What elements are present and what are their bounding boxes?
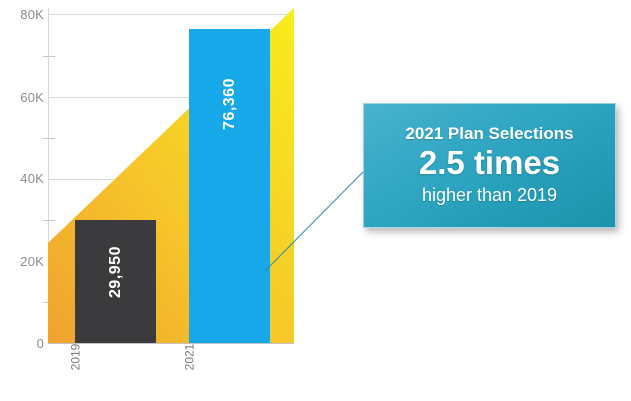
y-tick-label-60k: 60K — [4, 91, 44, 104]
plot-area: 29,950 76,360 — [48, 8, 294, 344]
x-axis-label-2021: 2021 — [159, 350, 219, 364]
x-axis-label-2019: 2019 — [45, 350, 105, 364]
bar-value-2021: 76,360 — [221, 78, 239, 130]
x-axis-label-2021-text: 2021 — [182, 344, 196, 371]
y-axis: 80K 60K 40K 20K 0 — [0, 0, 44, 401]
callout-line-2: 2.5 times — [419, 145, 560, 182]
bar-value-2019: 29,950 — [107, 246, 125, 298]
callout-line-1: 2021 Plan Selections — [405, 125, 573, 144]
bar-chart: 80K 60K 40K 20K 0 — [0, 0, 631, 401]
x-axis-spine — [48, 343, 294, 344]
y-tick-label-40k: 40K — [4, 172, 44, 185]
x-axis-label-2019-text: 2019 — [68, 344, 82, 371]
growth-callout: 2021 Plan Selections 2.5 times higher th… — [363, 103, 616, 228]
bar-2019[interactable]: 29,950 — [75, 220, 156, 343]
bar-2021[interactable]: 76,360 — [189, 29, 270, 343]
y-tick-label-0: 0 — [4, 337, 44, 350]
y-tick-label-20k: 20K — [4, 255, 44, 268]
y-tick-label-80k: 80K — [4, 8, 44, 21]
callout-line-3: higher than 2019 — [422, 186, 557, 206]
